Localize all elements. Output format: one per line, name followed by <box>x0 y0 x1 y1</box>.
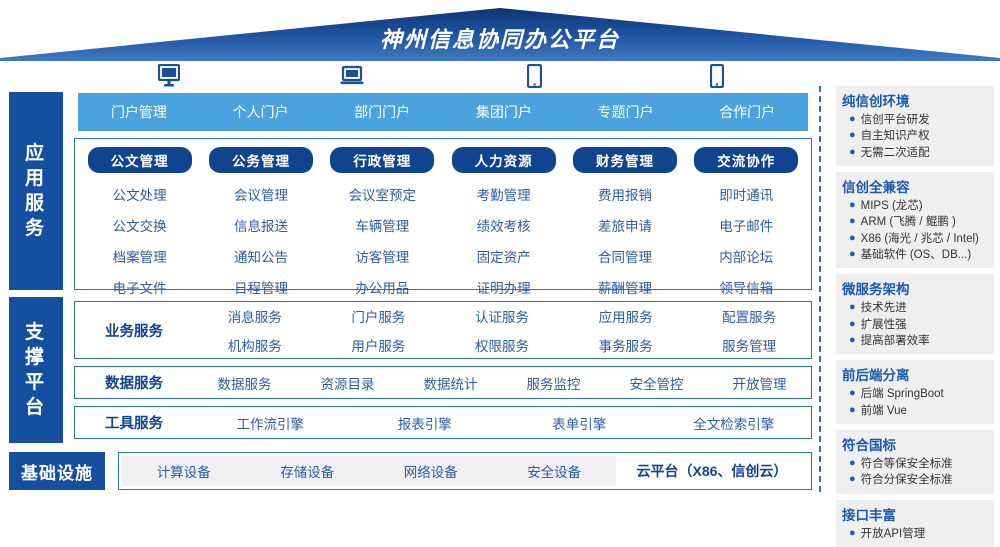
portal-item[interactable]: 部门门户 <box>321 93 443 131</box>
feature-card-title: 纯信创环境 <box>842 90 988 110</box>
application-item[interactable]: 领导信箱 <box>719 277 773 297</box>
bullet-icon: ● <box>849 526 856 542</box>
feature-card: 符合国标●符合等保安全标准●符合分保安全标准 <box>836 430 994 494</box>
feature-list-item: ●信创平台研发 <box>842 112 988 128</box>
application-item[interactable]: 内部论坛 <box>719 246 773 266</box>
feature-card: 微服务架构●技术先进●扩展性强●提高部署效率 <box>836 274 994 354</box>
rail-char: 应 <box>25 141 47 166</box>
desktop-monitor-icon <box>158 64 180 88</box>
feature-list-item-label: 自主知识产权 <box>861 128 930 144</box>
feature-list-item: ●提高部署效率 <box>842 333 988 349</box>
application-column-header[interactable]: 公务管理 <box>209 147 313 173</box>
application-item[interactable]: 费用报销 <box>598 184 652 204</box>
application-item[interactable]: 通知公告 <box>234 246 288 266</box>
device-slot-laptop <box>261 62 444 90</box>
support-item[interactable]: 数据服务 <box>193 373 296 393</box>
application-item[interactable]: 档案管理 <box>113 246 167 266</box>
laptop-icon <box>340 65 364 87</box>
portal-item[interactable]: 门户管理 <box>78 93 200 131</box>
application-item[interactable]: 信息报送 <box>234 215 288 235</box>
feature-list-item: ●符合等保安全标准 <box>842 456 988 472</box>
device-slot-desktop <box>78 62 261 90</box>
application-column: 交流协作即时通讯电子邮件内部论坛领导信箱 <box>686 147 807 283</box>
feature-card-title: 前后端分离 <box>842 364 988 384</box>
feature-panel: 纯信创环境●信创平台研发●自主知识产权●无需二次适配信创全兼容●MIPS (龙芯… <box>836 86 994 494</box>
application-item[interactable]: 电子文件 <box>113 277 167 297</box>
bullet-icon: ● <box>849 333 856 349</box>
feature-list-item-label: ARM (飞腾 / 鲲鹏 ) <box>861 214 956 230</box>
application-column: 公务管理会议管理信息报送通知公告日程管理 <box>200 147 321 283</box>
feature-card: 信创全兼容●MIPS (龙芯)●ARM (飞腾 / 鲲鹏 )●X86 (海光 /… <box>836 172 994 268</box>
feature-card-title: 符合国标 <box>842 434 988 454</box>
support-item[interactable]: 表单引擎 <box>502 413 657 433</box>
support-row: 机构服务用户服务权限服务事务服务服务管理 <box>193 335 811 355</box>
portal-item[interactable]: 个人门户 <box>200 93 322 131</box>
application-item[interactable]: 电子邮件 <box>719 215 773 235</box>
portal-item[interactable]: 集团门户 <box>443 93 565 131</box>
rail-char: 用 <box>25 166 47 191</box>
bullet-icon: ● <box>849 472 856 488</box>
infrastructure-item[interactable]: 存储设备 <box>245 461 368 481</box>
infrastructure-card: 计算设备存储设备网络设备安全设备 云平台（X86、信创云） <box>118 452 812 490</box>
support-row: 消息服务门户服务认证服务应用服务配置服务 <box>193 306 811 326</box>
application-column: 财务管理费用报销差旅申请合同管理薪酬管理 <box>564 147 685 283</box>
feature-list-item-label: X86 (海光 / 兆芯 / Intel) <box>861 231 979 247</box>
rail-application-label: 应用服务 <box>25 141 47 241</box>
support-item[interactable]: 权限服务 <box>440 335 564 355</box>
application-item[interactable]: 合同管理 <box>598 246 652 266</box>
application-item[interactable]: 固定资产 <box>477 246 531 266</box>
feature-list-item: ●技术先进 <box>842 300 988 316</box>
feature-list-item-label: 信创平台研发 <box>861 112 930 128</box>
feature-list-item-label: 后端 SpringBoot <box>861 386 944 402</box>
support-item[interactable]: 应用服务 <box>564 306 688 326</box>
rail-support-platform: 支撑平台 <box>9 297 63 443</box>
support-item[interactable]: 门户服务 <box>317 306 441 326</box>
feature-list-item: ●无需二次适配 <box>842 145 988 161</box>
feature-list-item-label: 基础软件 (OS、DB...) <box>861 247 972 263</box>
feature-card-title: 接口丰富 <box>842 504 988 524</box>
feature-card: 纯信创环境●信创平台研发●自主知识产权●无需二次适配 <box>836 86 994 166</box>
support-row: 工作流引擎报表引擎表单引擎全文检索引擎 <box>193 413 811 433</box>
support-item[interactable]: 报表引擎 <box>348 413 503 433</box>
header-roof: 神州信息协同办公平台 <box>0 0 1000 62</box>
rail-infrastructure-label: 基础设施 <box>21 459 93 484</box>
portal-item[interactable]: 专题门户 <box>565 93 687 131</box>
infrastructure-item[interactable]: 网络设备 <box>369 461 492 481</box>
support-item[interactable]: 安全管控 <box>605 373 708 393</box>
feature-list-item-label: 符合分保安全标准 <box>861 472 953 488</box>
bullet-icon: ● <box>849 247 856 263</box>
application-item[interactable]: 日程管理 <box>234 277 288 297</box>
application-item[interactable]: 公文交换 <box>113 215 167 235</box>
phone-icon <box>710 64 724 88</box>
infrastructure-cloud-platform: 云平台（X86、信创云） <box>616 461 808 481</box>
bullet-icon: ● <box>849 112 856 128</box>
support-item[interactable]: 服务监控 <box>502 373 605 393</box>
application-item[interactable]: 办公用品 <box>355 277 409 297</box>
infrastructure-item[interactable]: 安全设备 <box>492 461 615 481</box>
application-column-header[interactable]: 财务管理 <box>573 147 677 173</box>
support-item[interactable]: 服务管理 <box>687 335 811 355</box>
application-item[interactable]: 会议室预定 <box>349 184 417 204</box>
application-item[interactable]: 即时通讯 <box>719 184 773 204</box>
rail-application-services: 应用服务 <box>9 92 63 290</box>
bullet-icon: ● <box>849 456 856 472</box>
application-item[interactable]: 访客管理 <box>355 246 409 266</box>
feature-list-item: ●开放API管理 <box>842 526 988 542</box>
support-item[interactable]: 开放管理 <box>708 373 811 393</box>
support-item[interactable]: 认证服务 <box>440 306 564 326</box>
application-item[interactable]: 绩效考核 <box>477 215 531 235</box>
rail-char: 撑 <box>25 345 47 370</box>
application-item[interactable]: 证明办理 <box>477 277 531 297</box>
feature-card-title: 微服务架构 <box>842 278 988 298</box>
application-item[interactable]: 差旅申请 <box>598 215 652 235</box>
feature-list-item: ●基础软件 (OS、DB...) <box>842 247 988 263</box>
rail-support-label: 支撑平台 <box>25 320 47 420</box>
feature-list-item-label: 技术先进 <box>861 300 907 316</box>
support-tool-items: 工作流引擎报表引擎表单引擎全文检索引擎 <box>193 413 811 433</box>
infrastructure-basic-items: 计算设备存储设备网络设备安全设备 <box>122 456 616 486</box>
application-item[interactable]: 车辆管理 <box>355 215 409 235</box>
bullet-icon: ● <box>849 317 856 333</box>
support-item[interactable]: 机构服务 <box>193 335 317 355</box>
support-tool-label: 工具服务 <box>75 412 193 433</box>
application-item[interactable]: 薪酬管理 <box>598 277 652 297</box>
feature-list-item-label: 前端 Vue <box>861 403 907 419</box>
rail-char: 台 <box>25 395 47 420</box>
rail-char: 平 <box>25 370 47 395</box>
bullet-icon: ● <box>849 300 856 316</box>
feature-list-item-label: MIPS (龙芯) <box>861 198 923 214</box>
application-column-header[interactable]: 人力资源 <box>452 147 556 173</box>
application-item[interactable]: 会议管理 <box>234 184 288 204</box>
application-column: 人力资源考勤管理绩效考核固定资产证明办理 <box>443 147 564 283</box>
feature-card-title: 信创全兼容 <box>842 176 988 196</box>
application-item[interactable]: 考勤管理 <box>477 184 531 204</box>
page-title: 神州信息协同办公平台 <box>0 22 1000 54</box>
device-slot-phone <box>626 62 809 90</box>
support-row: 数据服务资源目录数据统计服务监控安全管控开放管理 <box>193 373 811 393</box>
support-item[interactable]: 用户服务 <box>317 335 441 355</box>
application-column-header[interactable]: 行政管理 <box>330 147 434 173</box>
feature-list-item: ●自主知识产权 <box>842 128 988 144</box>
rail-char: 服 <box>25 191 47 216</box>
feature-list-item: ●前端 Vue <box>842 403 988 419</box>
support-card-data: 数据服务 数据服务资源目录数据统计服务监控安全管控开放管理 <box>74 366 812 399</box>
feature-list-item: ●扩展性强 <box>842 317 988 333</box>
application-column-header[interactable]: 交流协作 <box>694 147 798 173</box>
bullet-icon: ● <box>849 128 856 144</box>
bullet-icon: ● <box>849 145 856 161</box>
support-card-tool: 工具服务 工作流引擎报表引擎表单引擎全文检索引擎 <box>74 406 812 439</box>
support-item[interactable]: 工作流引擎 <box>193 413 348 433</box>
support-item[interactable]: 配置服务 <box>687 306 811 326</box>
application-services-card: 公文管理公文处理公文交换档案管理电子文件公务管理会议管理信息报送通知公告日程管理… <box>74 138 812 290</box>
infrastructure-item[interactable]: 计算设备 <box>122 461 245 481</box>
feature-list-item-label: 提高部署效率 <box>861 333 930 349</box>
feature-list-item: ●MIPS (龙芯) <box>842 198 988 214</box>
bullet-icon: ● <box>849 198 856 214</box>
device-icon-row <box>78 62 808 90</box>
support-item[interactable]: 事务服务 <box>564 335 688 355</box>
portal-bar: 门户管理个人门户部门门户集团门户专题门户合作门户 <box>78 93 808 131</box>
feature-list-item: ●X86 (海光 / 兆芯 / Intel) <box>842 231 988 247</box>
feature-card: 接口丰富●开放API管理 <box>836 500 994 547</box>
support-item[interactable]: 数据统计 <box>399 373 502 393</box>
support-item[interactable]: 资源目录 <box>296 373 399 393</box>
support-item[interactable]: 全文检索引擎 <box>657 413 812 433</box>
rail-char: 务 <box>25 216 47 241</box>
support-business-label: 业务服务 <box>75 320 193 341</box>
feature-card: 前后端分离●后端 SpringBoot●前端 Vue <box>836 360 994 424</box>
feature-list-item-label: 无需二次适配 <box>861 145 930 161</box>
bullet-icon: ● <box>849 403 856 419</box>
application-column-header[interactable]: 公文管理 <box>88 147 192 173</box>
application-column: 公文管理公文处理公文交换档案管理电子文件 <box>79 147 200 283</box>
rail-char: 支 <box>25 320 47 345</box>
rail-infrastructure: 基础设施 <box>9 452 105 490</box>
portal-item[interactable]: 合作门户 <box>686 93 808 131</box>
device-slot-tablet <box>443 62 626 90</box>
feature-list-item: ●ARM (飞腾 / 鲲鹏 ) <box>842 214 988 230</box>
support-business-items: 消息服务门户服务认证服务应用服务配置服务机构服务用户服务权限服务事务服务服务管理 <box>193 306 811 355</box>
feature-list-item: ●后端 SpringBoot <box>842 386 988 402</box>
bullet-icon: ● <box>849 386 856 402</box>
application-column: 行政管理会议室预定车辆管理访客管理办公用品 <box>322 147 443 283</box>
support-data-label: 数据服务 <box>75 372 193 393</box>
support-data-items: 数据服务资源目录数据统计服务监控安全管控开放管理 <box>193 373 811 393</box>
vertical-dashed-divider <box>819 86 821 492</box>
bullet-icon: ● <box>849 231 856 247</box>
feature-list-item-label: 开放API管理 <box>861 526 926 542</box>
bullet-icon: ● <box>849 214 856 230</box>
feature-list-item-label: 符合等保安全标准 <box>861 456 953 472</box>
tablet-icon <box>527 64 542 88</box>
feature-list-item: ●符合分保安全标准 <box>842 472 988 488</box>
feature-list-item-label: 扩展性强 <box>861 317 907 333</box>
application-item[interactable]: 公文处理 <box>113 184 167 204</box>
support-item[interactable]: 消息服务 <box>193 306 317 326</box>
support-card-business: 业务服务 消息服务门户服务认证服务应用服务配置服务机构服务用户服务权限服务事务服… <box>74 301 812 359</box>
